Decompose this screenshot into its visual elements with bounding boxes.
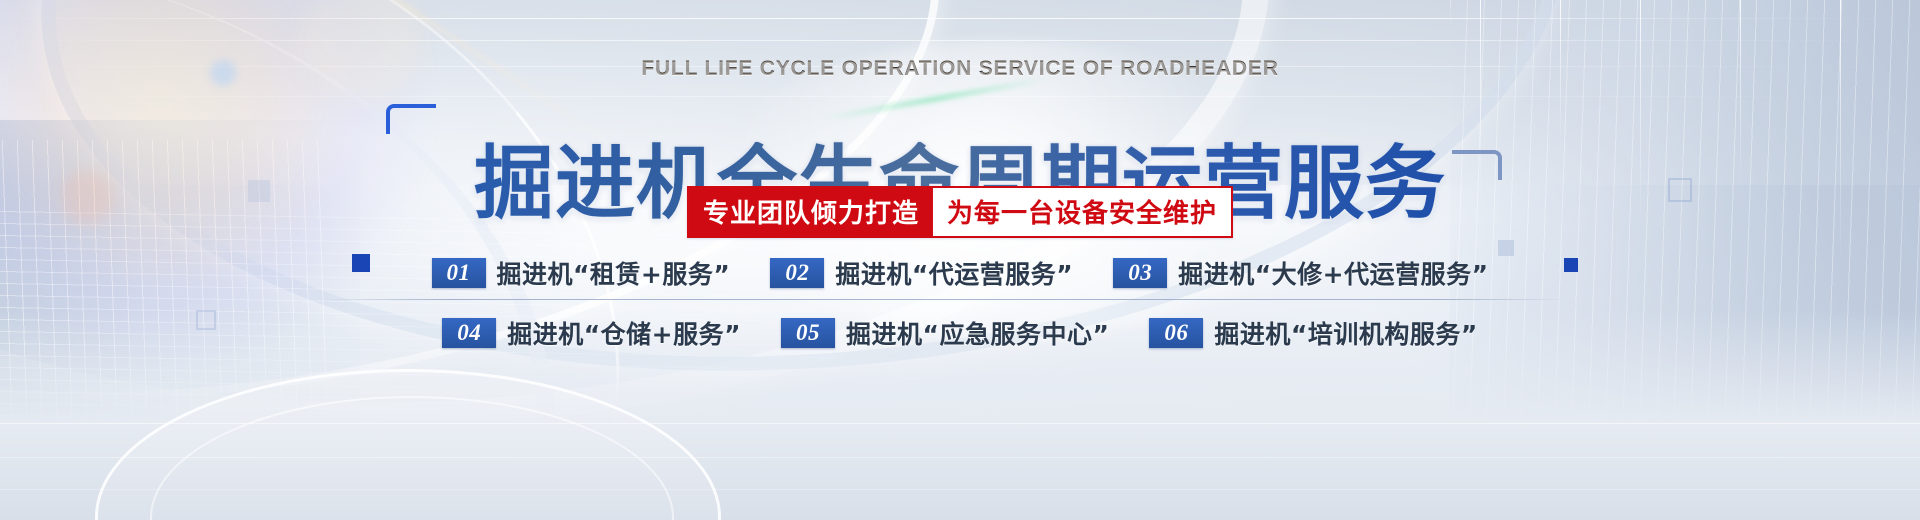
service-label: 掘进机“租赁+服务”: [497, 255, 731, 291]
service-number-badge: 04: [442, 318, 496, 348]
service-list: 01 掘进机“租赁+服务” 02 掘进机“代运营服务” 03 掘进机“大修+代运…: [0, 246, 1920, 360]
service-number-badge: 05: [781, 318, 835, 348]
service-label: 掘进机“仓储+服务”: [507, 315, 741, 351]
banner-eyebrow-text: FULL LIFE CYCLE OPERATION SERVICE OF ROA…: [0, 57, 1920, 81]
service-row-2: 04 掘进机“仓储+服务” 05 掘进机“应急服务中心” 06 掘进机“培训机构…: [0, 306, 1920, 360]
service-label: 掘进机“大修+代运营服务”: [1178, 255, 1488, 291]
service-item-01[interactable]: 01 掘进机“租赁+服务”: [432, 255, 731, 291]
service-row-divider: [318, 299, 1566, 300]
banner-content: FULL LIFE CYCLE OPERATION SERVICE OF ROA…: [0, 0, 1920, 520]
service-item-05[interactable]: 05 掘进机“应急服务中心”: [781, 315, 1109, 351]
service-item-04[interactable]: 04 掘进机“仓储+服务”: [442, 315, 741, 351]
service-item-02[interactable]: 02 掘进机“代运营服务”: [770, 255, 1073, 291]
service-label: 掘进机“应急服务中心”: [846, 315, 1109, 351]
service-row-1: 01 掘进机“租赁+服务” 02 掘进机“代运营服务” 03 掘进机“大修+代运…: [0, 246, 1920, 300]
service-item-03[interactable]: 03 掘进机“大修+代运营服务”: [1113, 255, 1488, 291]
slogan-badge: 专业团队倾力打造 为每一台设备安全维护: [687, 186, 1233, 238]
service-number-badge: 06: [1149, 318, 1203, 348]
service-number-badge: 01: [432, 258, 486, 288]
service-label: 掘进机“代运营服务”: [835, 255, 1073, 291]
service-item-06[interactable]: 06 掘进机“培训机构服务”: [1149, 315, 1477, 351]
promo-banner: FULL LIFE CYCLE OPERATION SERVICE OF ROA…: [0, 0, 1920, 520]
service-number-badge: 02: [770, 258, 824, 288]
slogan-right-text: 为每一台设备安全维护: [933, 188, 1231, 236]
service-number-badge: 03: [1113, 258, 1167, 288]
slogan-left-text: 专业团队倾力打造: [689, 188, 933, 236]
service-label: 掘进机“培训机构服务”: [1214, 315, 1477, 351]
